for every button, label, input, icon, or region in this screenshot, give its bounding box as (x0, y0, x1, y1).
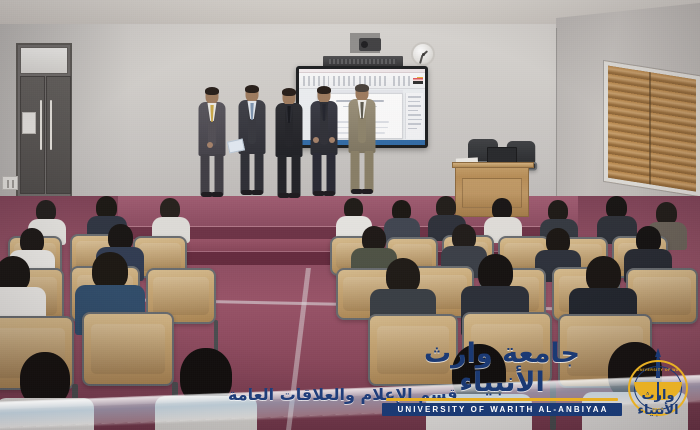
photo-canvas: قسم الإعلام والعلاقات العامة جامعة وارث … (0, 0, 700, 430)
auditorium-seat[interactable] (82, 312, 174, 386)
document-side-panel (405, 93, 423, 139)
wall-corner-line (556, 28, 557, 218)
blind-divider (649, 72, 651, 184)
flag-icon (413, 78, 423, 84)
light-switch[interactable] (2, 176, 18, 190)
door-handle-right[interactable] (50, 100, 52, 150)
seat-leg (550, 382, 556, 430)
window (604, 61, 700, 196)
wall-clock-icon (411, 42, 435, 66)
auditorium-seat[interactable] (368, 314, 458, 386)
projector-icon (359, 38, 381, 51)
door-transom-window (20, 47, 68, 74)
door-sign (22, 112, 36, 134)
window-blinds (608, 66, 696, 192)
door-handle-left[interactable] (40, 100, 42, 150)
